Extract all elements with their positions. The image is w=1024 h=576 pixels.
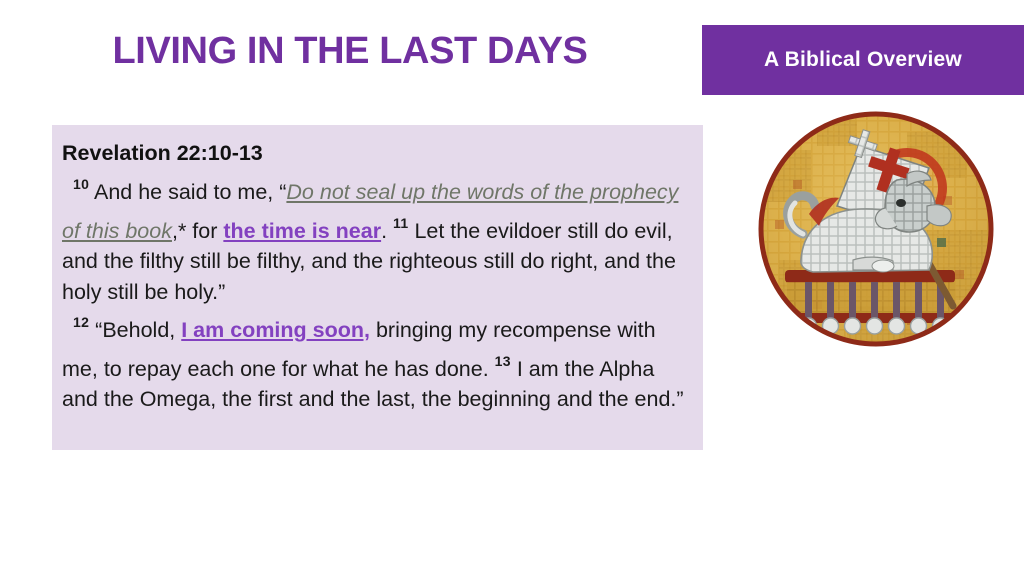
verse-12-lead-text: “Behold,	[95, 318, 181, 342]
verse-10-tail-text: .	[381, 219, 393, 243]
verse-number-10: 10	[73, 176, 89, 192]
scripture-passage: 10 And he said to me, “Do not seal up th…	[59, 169, 693, 307]
mosaic-green-tessera	[937, 238, 946, 247]
scripture-panel: Revelation 22:10-13 10 And he said to me…	[52, 125, 703, 450]
scripture-passage-second: 12 “Behold, I am coming soon, bringing m…	[59, 307, 693, 415]
agnus-dei-mosaic-svg	[757, 110, 995, 348]
verse-10-lead-text: And he said to me, “	[94, 180, 286, 204]
page-title: LIVING IN THE LAST DAYS	[0, 28, 700, 74]
verse-10-purple-emphasis: the time is near	[223, 219, 381, 243]
agnus-dei-mosaic-image	[757, 110, 995, 348]
scripture-reference: Revelation 22:10-13	[59, 138, 693, 168]
subtitle-text: A Biblical Overview	[764, 48, 962, 72]
verse-number-12: 12	[73, 314, 89, 330]
verse-12-purple-emphasis: I am coming soon,	[181, 318, 370, 342]
verse-number-11: 11	[393, 215, 408, 231]
mosaic-disc-content	[757, 110, 995, 348]
subtitle-banner: A Biblical Overview	[702, 25, 1024, 95]
verse-number-13: 13	[495, 353, 511, 369]
verse-10-mid-text: ,* for	[172, 219, 223, 243]
